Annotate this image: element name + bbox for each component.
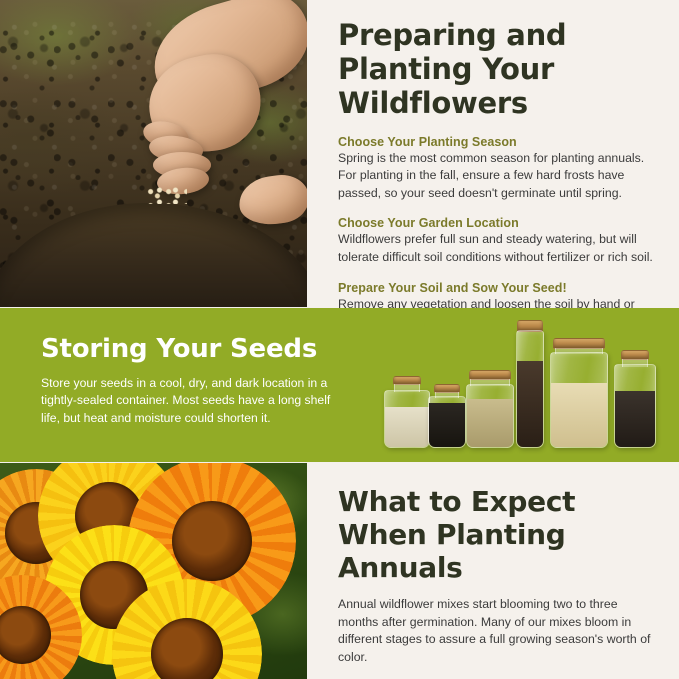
- jar-contents: [615, 391, 655, 447]
- jar-body: [428, 396, 466, 448]
- flower-center-dots: [175, 504, 249, 578]
- storing-seeds-title: Storing Your Seeds: [41, 334, 341, 365]
- jar-body: [550, 352, 608, 448]
- infographic-page: Preparing and Planting Your Wildflowers …: [0, 0, 679, 679]
- jar-contents: [385, 407, 429, 447]
- subheading-planting-season: Choose Your Planting Season: [338, 135, 657, 149]
- jar-dark-seeds-tall: [516, 320, 544, 448]
- jar-contents: [517, 361, 543, 447]
- jar-contents: [429, 403, 465, 447]
- flower-center-dots: [0, 609, 48, 662]
- photo-seed-jars: [378, 316, 673, 456]
- photo-yellow-orange-daisies: [0, 463, 307, 679]
- page-title: Preparing and Planting Your Wildflowers: [338, 18, 657, 121]
- jar-pumpkin-seeds: [550, 338, 608, 448]
- jar-body: [614, 364, 656, 448]
- section-two-content: Storing Your Seeds Store your seeds in a…: [41, 334, 341, 427]
- section-three-content: What to Expect When Planting Annuals Ann…: [307, 463, 679, 679]
- jar-body: [466, 384, 514, 448]
- jar-body: [384, 390, 430, 448]
- what-to-expect-title: What to Expect When Planting Annuals: [338, 485, 653, 584]
- section-one-content: Preparing and Planting Your Wildflowers …: [307, 0, 679, 307]
- flower-center-dots: [154, 621, 220, 679]
- jar-sunflower-seeds: [614, 350, 656, 448]
- jar-white-beans: [384, 376, 430, 448]
- jar-body: [516, 330, 544, 448]
- subheading-prepare-soil: Prepare Your Soil and Sow Your Seed!: [338, 281, 657, 295]
- what-to-expect-body: Annual wildflower mixes start blooming t…: [338, 596, 653, 666]
- jar-black-seeds: [428, 384, 466, 448]
- jar-contents: [467, 399, 513, 447]
- jar-contents: [551, 383, 607, 447]
- seeds-in-hand: [147, 186, 187, 204]
- section-storing-your-seeds: Storing Your Seeds Store your seeds in a…: [0, 308, 679, 462]
- photo-hands-sowing-seeds: [0, 0, 307, 307]
- storing-seeds-body: Store your seeds in a cool, dry, and dar…: [41, 375, 341, 428]
- subheading-garden-location: Choose Your Garden Location: [338, 216, 657, 230]
- section-what-to-expect: What to Expect When Planting Annuals Ann…: [0, 463, 679, 679]
- jar-grain-seeds: [466, 370, 514, 448]
- body-planting-season: Spring is the most common season for pla…: [338, 150, 657, 203]
- body-garden-location: Wildflowers prefer full sun and steady w…: [338, 231, 657, 266]
- section-preparing-and-planting: Preparing and Planting Your Wildflowers …: [0, 0, 679, 307]
